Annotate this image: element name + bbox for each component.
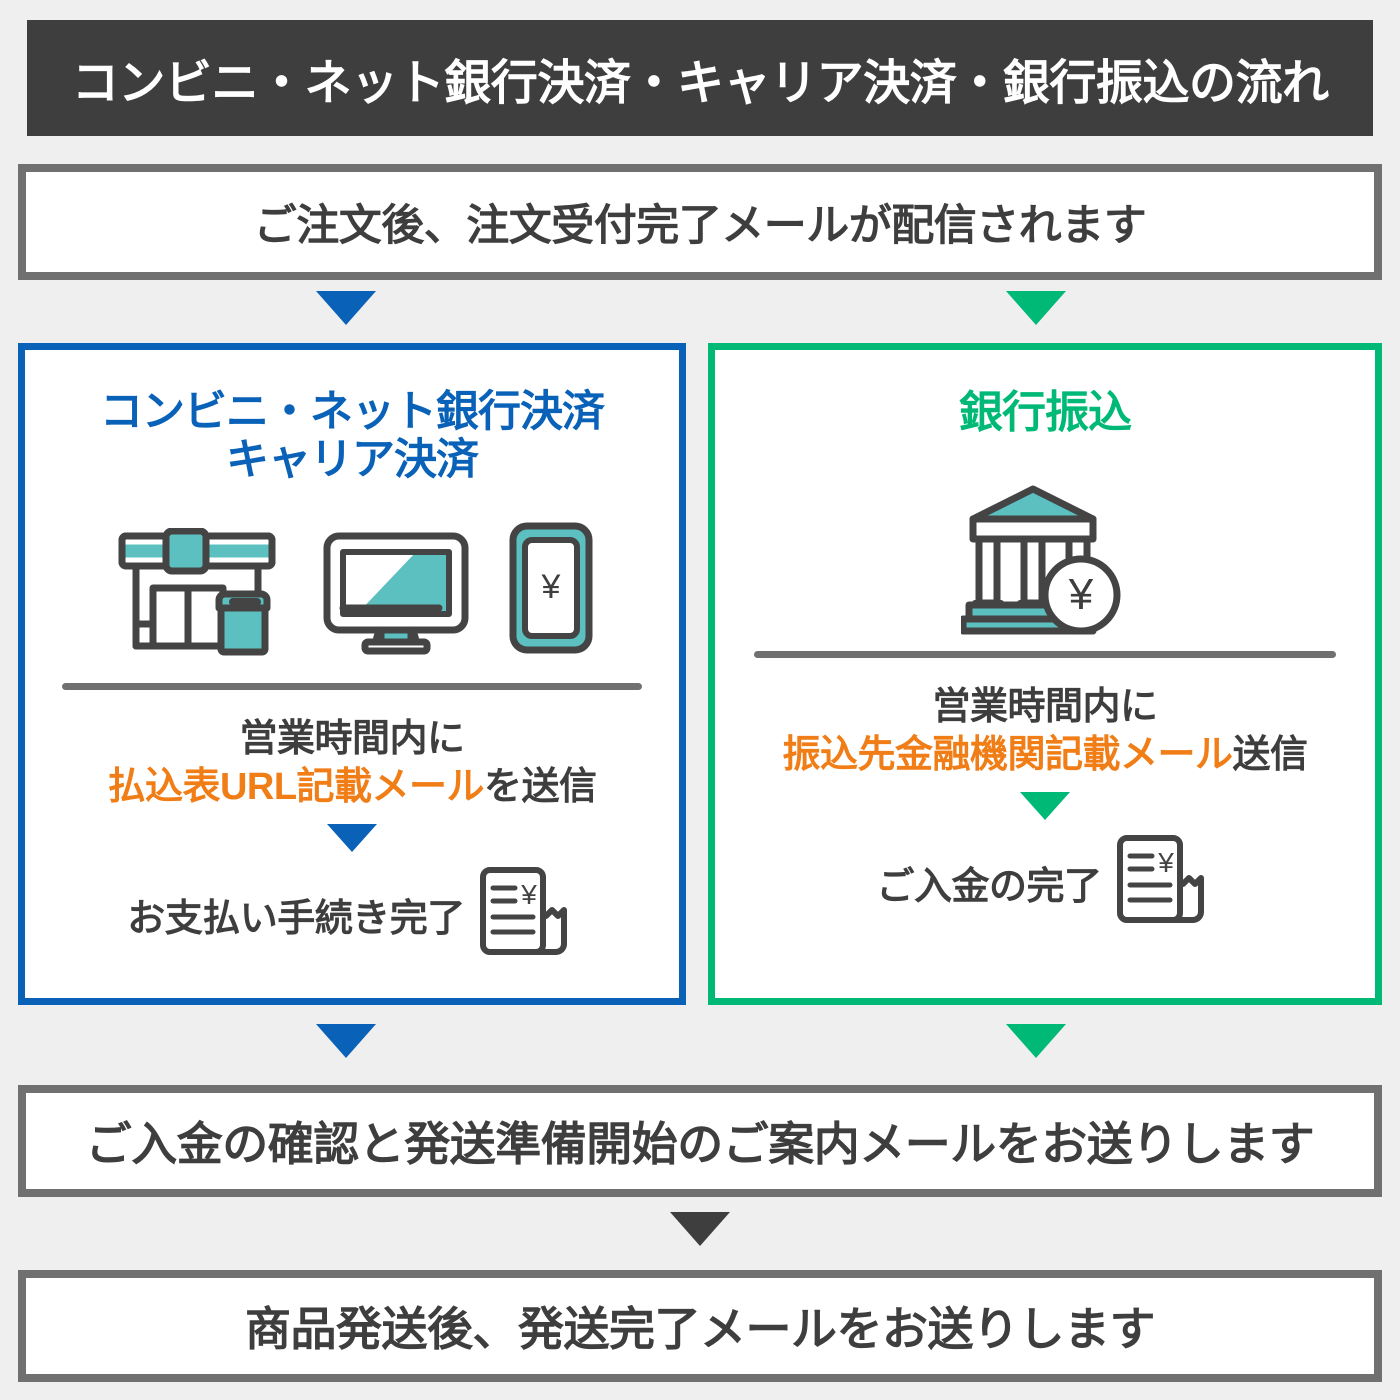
arrow-down-to-shipped-icon xyxy=(670,1212,730,1246)
step-payment-confirmed: ご入金の確認と発送準備開始のご案内メールをお送りします xyxy=(18,1085,1382,1197)
panel-bank-done-row: ご入金の完了 ¥ xyxy=(876,830,1213,934)
svg-text:¥: ¥ xyxy=(1068,570,1094,619)
panel-conveni-line2: 払込表URL記載メールを送信 xyxy=(107,764,596,812)
panel-conveni-title: コンビニ・ネット銀行決済 キャリア決済 xyxy=(100,388,604,484)
arrow-down-to-conveni-icon xyxy=(316,291,376,325)
convenience-store-icon xyxy=(109,528,285,656)
panel-conveni-line2-suffix: を送信 xyxy=(484,766,597,808)
panel-conveni-payment: コンビニ・ネット銀行決済 キャリア決済 xyxy=(18,343,686,1005)
svg-text:¥: ¥ xyxy=(520,879,537,910)
panel-bank-line1: 営業時間内に xyxy=(782,684,1307,732)
panel-bank-divider xyxy=(754,651,1336,658)
panel-bank-title: 銀行振込 xyxy=(959,388,1131,437)
svg-text:¥: ¥ xyxy=(1157,847,1174,878)
panel-conveni-line2-highlight: 払込表URL記載メール xyxy=(107,766,484,808)
page-title-bar: コンビニ・ネット銀行決済・キャリア決済・銀行振込の流れ xyxy=(27,20,1373,136)
svg-text:¥: ¥ xyxy=(541,568,561,606)
step-order-received: ご注文後、注文受付完了メールが配信されます xyxy=(18,164,1382,280)
bank-building-yen-icon: ¥ xyxy=(961,483,1129,639)
invoice-yen-icon: ¥ xyxy=(471,862,577,966)
panel-conveni-instructions: 営業時間内に 払込表URL記載メールを送信 xyxy=(107,716,596,812)
panel-conveni-divider xyxy=(62,683,642,690)
panel-bank-done-label: ご入金の完了 xyxy=(876,855,1101,910)
desktop-monitor-icon xyxy=(321,530,471,656)
arrow-down-from-conveni-icon xyxy=(316,1024,376,1058)
arrow-down-bank-inner-icon xyxy=(1020,792,1070,820)
panel-bank-icon-row: ¥ xyxy=(715,479,1375,639)
panel-bank-transfer: 銀行振込 ¥ xyxy=(708,343,1382,1005)
panel-bank-line2-highlight: 振込先金融機関記載メール xyxy=(782,734,1232,776)
step-payment-confirmed-label: ご入金の確認と発送準備開始のご案内メールをお送りします xyxy=(86,1108,1315,1174)
page-title: コンビニ・ネット銀行決済・キャリア決済・銀行振込の流れ xyxy=(72,43,1329,113)
invoice-yen-icon: ¥ xyxy=(1108,830,1214,934)
arrow-down-from-bank-icon xyxy=(1006,1024,1066,1058)
panel-bank-instructions: 営業時間内に 振込先金融機関記載メール送信 xyxy=(782,684,1307,780)
panel-conveni-line1: 営業時間内に xyxy=(107,716,596,764)
arrow-down-to-bank-icon xyxy=(1006,291,1066,325)
panel-conveni-done-row: お支払い手続き完了 ¥ xyxy=(127,862,577,966)
smartphone-yen-icon: ¥ xyxy=(507,520,595,656)
panel-conveni-icon-row: ¥ xyxy=(25,516,679,656)
panel-bank-line2-suffix: 送信 xyxy=(1233,734,1308,776)
panel-bank-line2: 振込先金融機関記載メール送信 xyxy=(782,732,1307,780)
step-shipment-notice: 商品発送後、発送完了メールをお送りします xyxy=(18,1270,1382,1382)
flow-diagram-page: コンビニ・ネット銀行決済・キャリア決済・銀行振込の流れ ご注文後、注文受付完了メ… xyxy=(0,0,1400,1400)
step-order-received-label: ご注文後、注文受付完了メールが配信されます xyxy=(254,191,1147,253)
panel-conveni-done-label: お支払い手続き完了 xyxy=(127,887,465,942)
arrow-down-conveni-inner-icon xyxy=(327,824,377,852)
step-shipment-notice-label: 商品発送後、発送完了メールをお送りします xyxy=(245,1293,1155,1359)
